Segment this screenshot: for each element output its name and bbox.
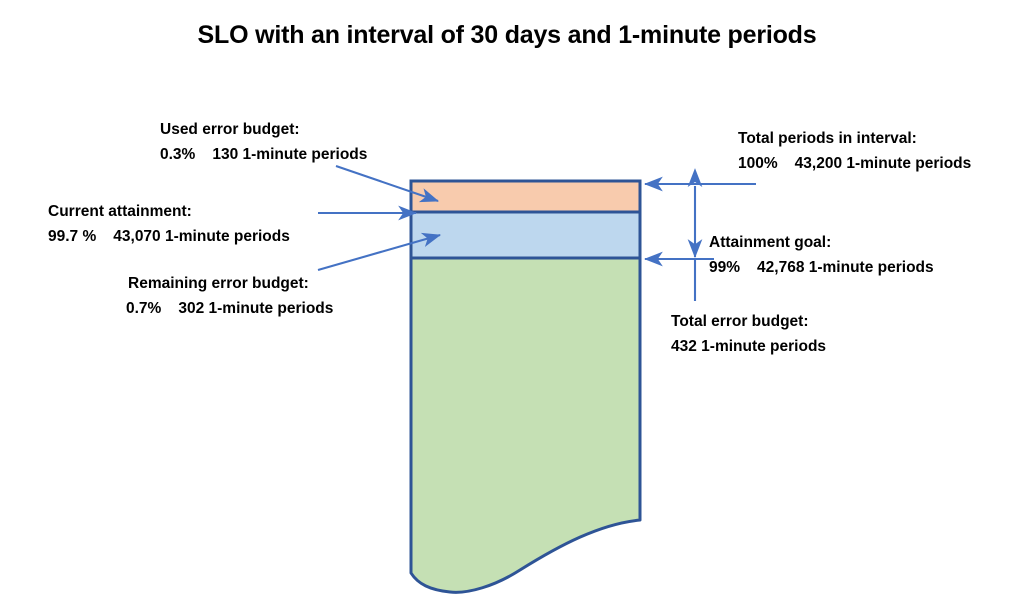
annotation-used-error-budget-percent: 0.3%: [160, 142, 195, 167]
annotation-remaining-error-budget-percent: 0.7%: [126, 296, 161, 321]
annotation-total-periods-percent: 100%: [738, 151, 778, 176]
annotation-current-attainment: Current attainment: 99.7 %43,070 1-minut…: [48, 199, 290, 249]
annotation-used-error-budget-label: Used error budget:: [160, 117, 367, 142]
annotation-current-attainment-percent: 99.7 %: [48, 224, 96, 249]
annotation-attainment-goal-percent: 99%: [709, 255, 740, 280]
bar-segment-remaining-error-budget: [411, 212, 640, 258]
annotation-remaining-error-budget: Remaining error budget: 0.7%302 1-minute…: [128, 271, 333, 321]
annotation-attainment-goal-periods: 42,768 1-minute periods: [757, 255, 934, 280]
annotation-attainment-goal-label: Attainment goal:: [709, 230, 934, 255]
annotation-total-periods-periods: 43,200 1-minute periods: [795, 151, 972, 176]
annotation-current-attainment-periods: 43,070 1-minute periods: [113, 224, 290, 249]
annotation-total-periods-label: Total periods in interval:: [738, 126, 971, 151]
annotation-used-error-budget-values: 0.3%130 1-minute periods: [160, 142, 367, 167]
annotation-total-error-budget: Total error budget: 432 1-minute periods: [671, 309, 826, 359]
annotation-remaining-error-budget-label: Remaining error budget:: [128, 271, 333, 296]
bar-segments: [411, 181, 640, 592]
annotation-current-attainment-label: Current attainment:: [48, 199, 290, 224]
annotation-attainment-goal: Attainment goal: 99%42,768 1-minute peri…: [709, 230, 934, 280]
annotation-total-periods-values: 100%43,200 1-minute periods: [738, 151, 971, 176]
slo-diagram: SLO with an interval of 30 days and 1-mi…: [0, 0, 1014, 610]
bar-segment-used-error-budget: [411, 181, 640, 212]
annotation-total-error-budget-periods: 432 1-minute periods: [671, 334, 826, 359]
annotation-used-error-budget-periods: 130 1-minute periods: [212, 142, 367, 167]
annotation-current-attainment-values: 99.7 %43,070 1-minute periods: [48, 224, 290, 249]
bar-segment-attained: [411, 258, 640, 592]
annotation-used-error-budget: Used error budget: 0.3%130 1-minute peri…: [160, 117, 367, 167]
annotation-total-error-budget-label: Total error budget:: [671, 309, 826, 334]
annotation-total-periods-in-interval: Total periods in interval: 100%43,200 1-…: [738, 126, 971, 176]
annotation-attainment-goal-values: 99%42,768 1-minute periods: [709, 255, 934, 280]
annotation-remaining-error-budget-values: 0.7%302 1-minute periods: [126, 296, 333, 321]
annotation-remaining-error-budget-periods: 302 1-minute periods: [178, 296, 333, 321]
